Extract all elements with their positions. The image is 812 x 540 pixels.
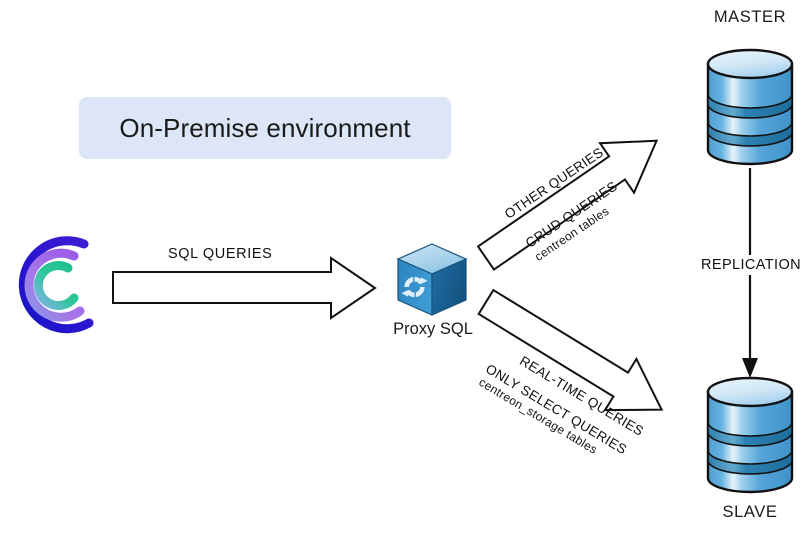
arrow-logo-to-proxy xyxy=(113,258,375,318)
replication-label: REPLICATION xyxy=(700,255,802,275)
arrows-layer xyxy=(0,0,812,540)
arrow-proxy-to-master xyxy=(469,116,674,283)
diagram-canvas: On-Premise environment xyxy=(0,0,812,540)
sql-queries-label: SQL QUERIES xyxy=(168,246,272,262)
arrow-master-to-slave-head xyxy=(742,358,758,378)
